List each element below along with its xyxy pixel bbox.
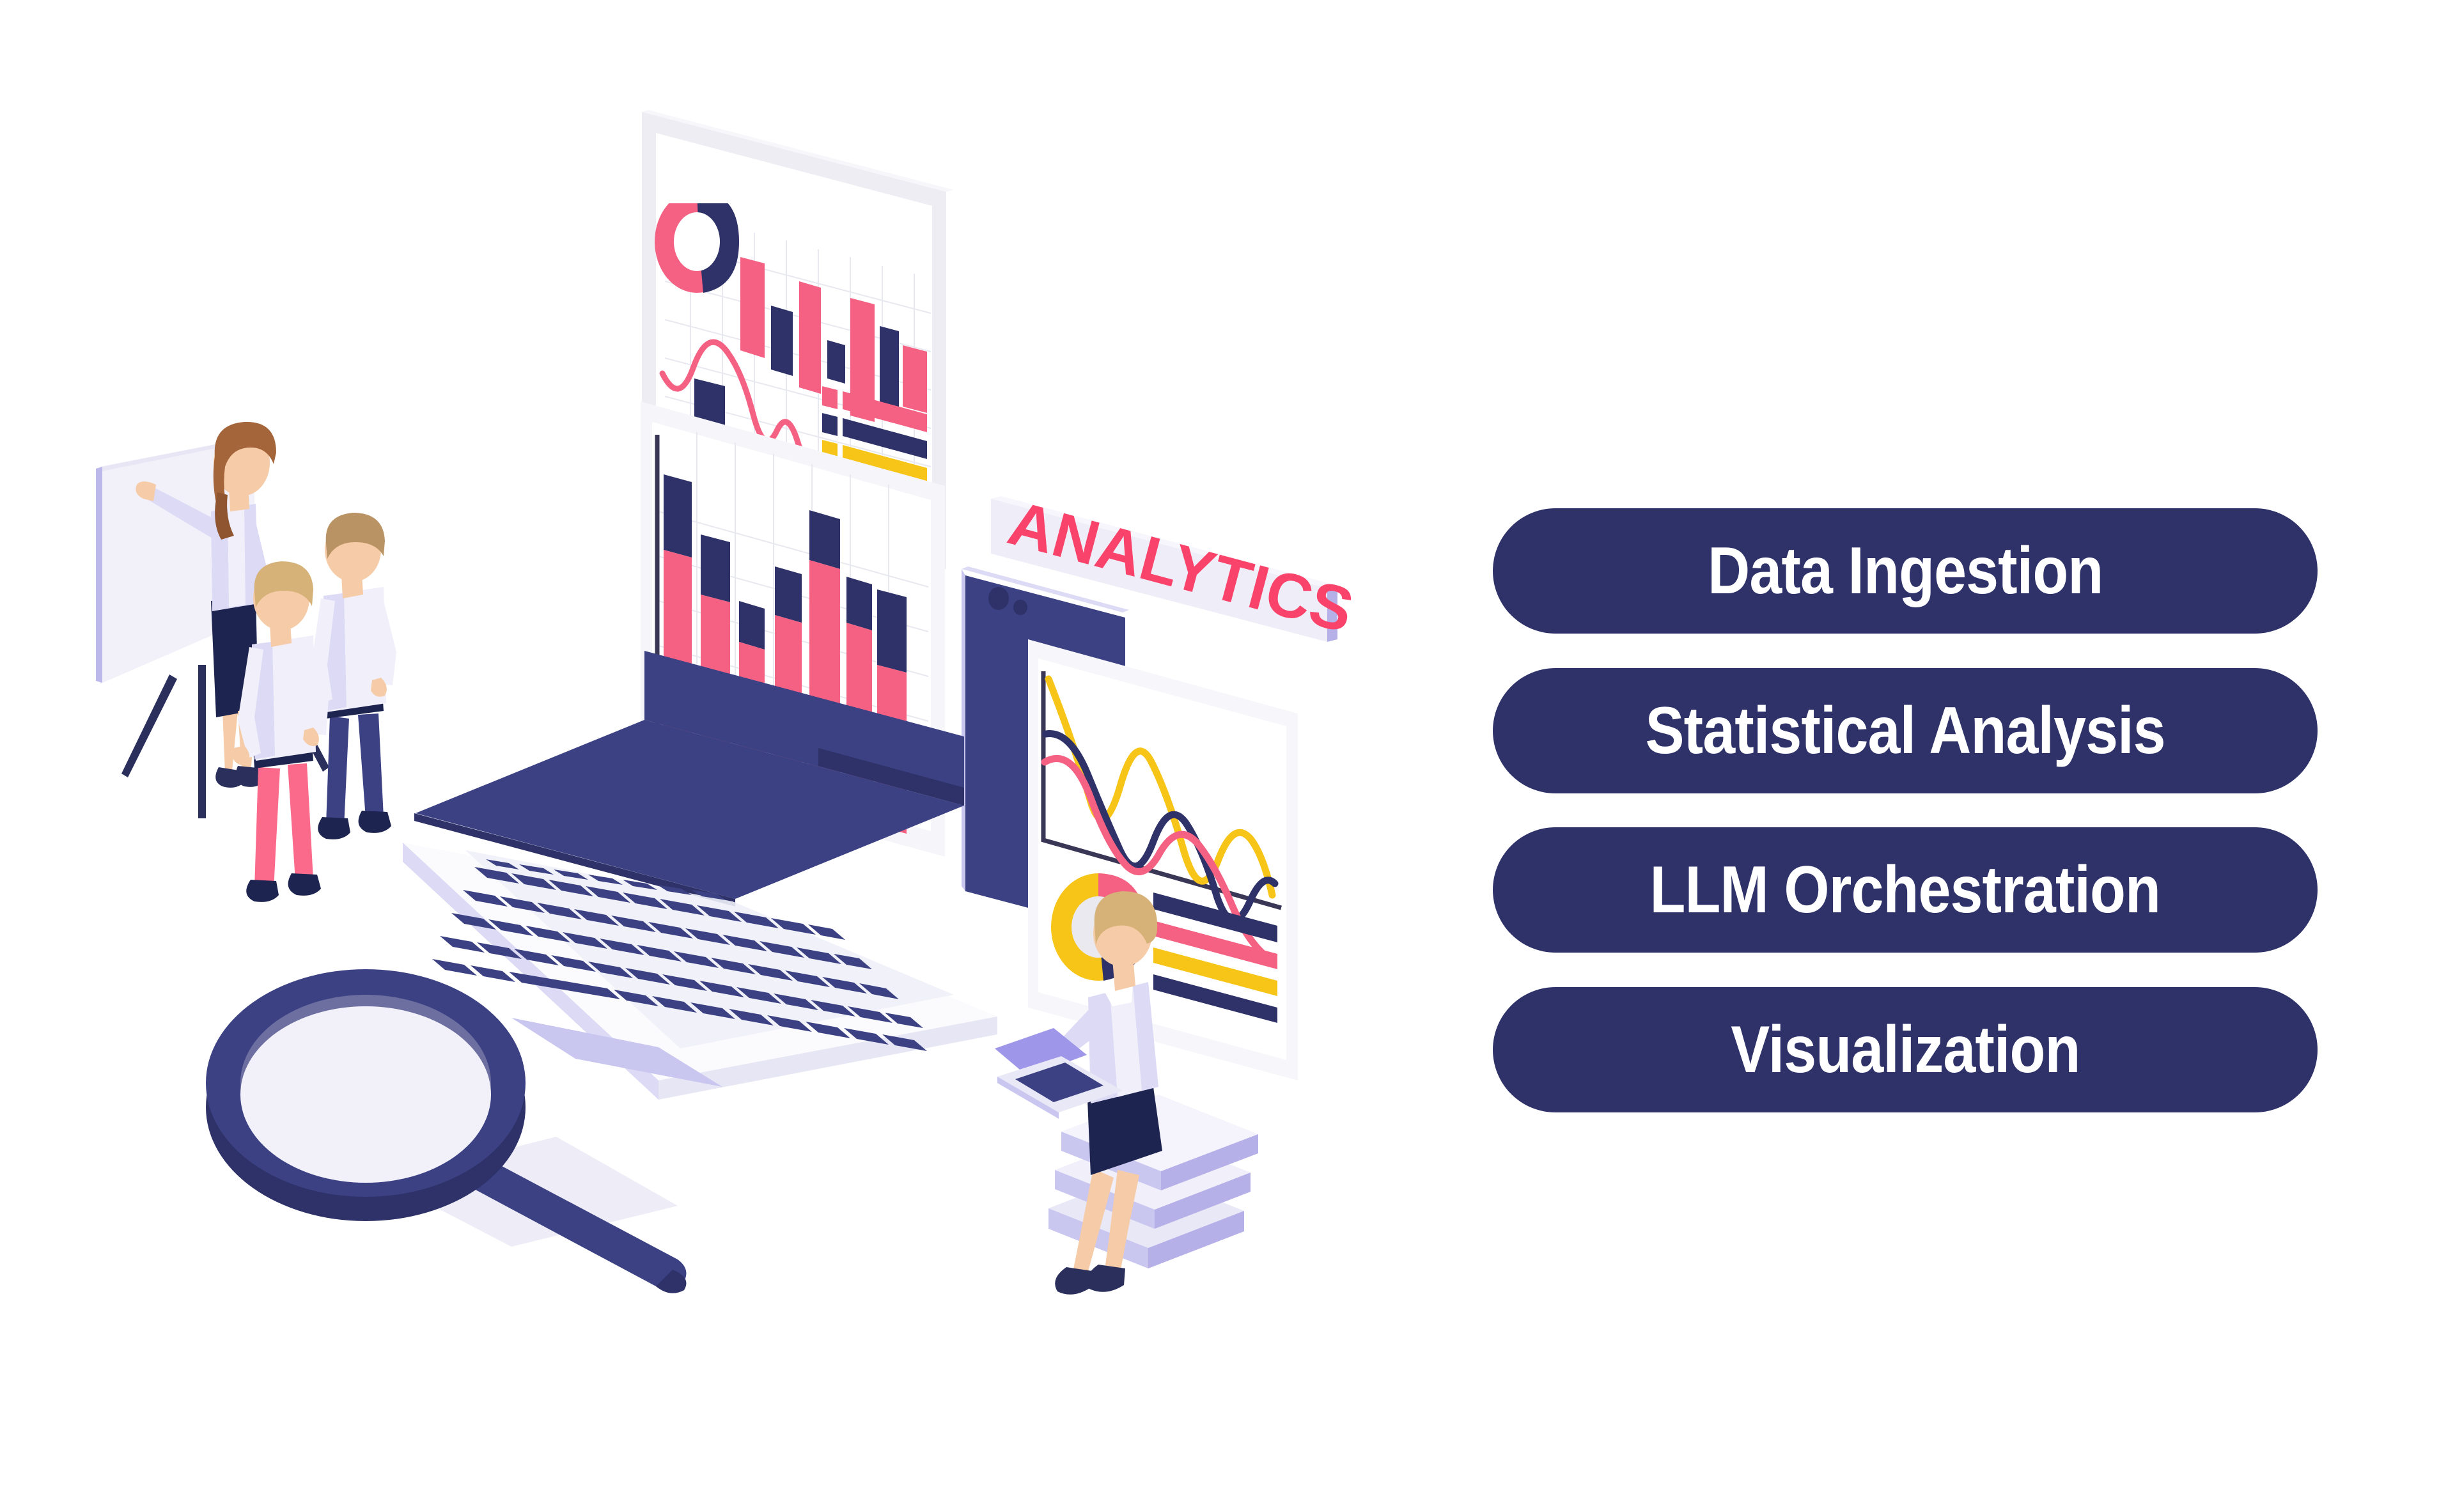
pipeline-step-statistical-analysis[interactable]: Statistical Analysis: [1493, 668, 2318, 793]
pipeline-step-label: Data Ingestion: [1708, 538, 2103, 604]
pipeline-steps-list: Data Ingestion Statistical Analysis LLM …: [1493, 508, 2318, 1112]
window-dot-2: [1013, 600, 1027, 615]
pipeline-step-label: Statistical Analysis: [1645, 698, 2165, 764]
pipeline-step-label: Visualization: [1731, 1017, 2080, 1083]
pipeline-step-label: LLM Orchestration: [1650, 857, 2161, 923]
analytics-illustration: ANALYTICS: [0, 0, 1470, 1512]
pipeline-step-visualization[interactable]: Visualization: [1493, 987, 2318, 1112]
page-root: ANALYTICS: [0, 0, 2455, 1512]
pipeline-step-llm-orchestration[interactable]: LLM Orchestration: [1493, 827, 2318, 953]
pipeline-step-data-ingestion[interactable]: Data Ingestion: [1493, 508, 2318, 634]
window-dot-1: [988, 587, 1009, 610]
donut-chart-top: [655, 191, 739, 293]
